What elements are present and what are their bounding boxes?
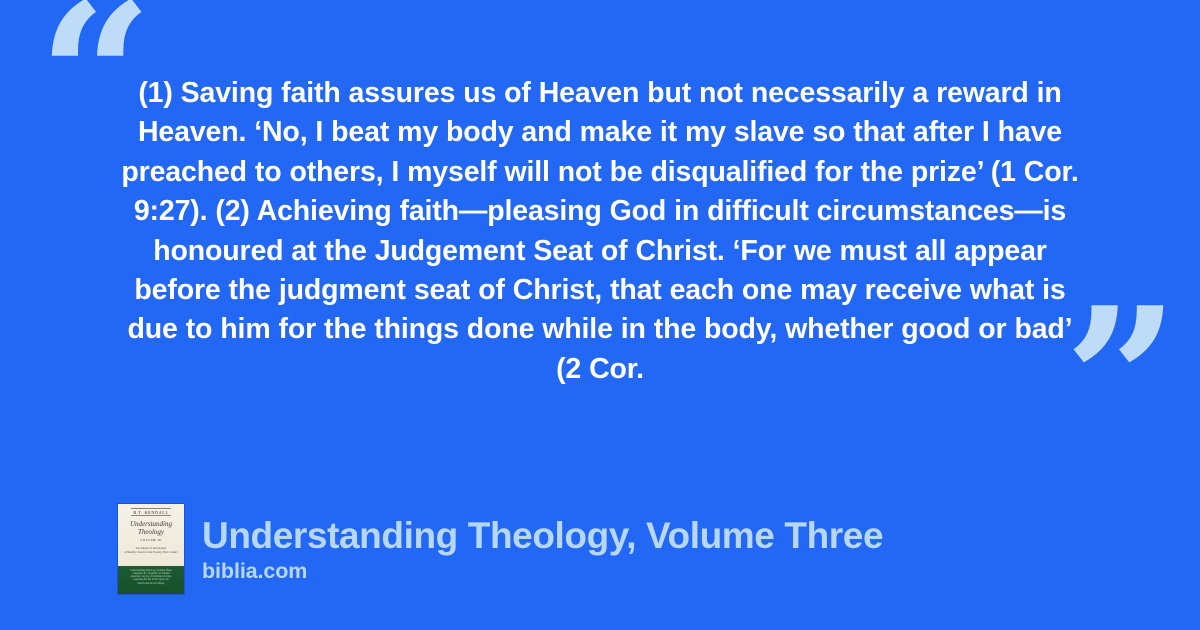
- book-cover-blurb: Understanding Theology, Volume Three com…: [121, 569, 181, 585]
- book-cover-thumbnail: R.T. KENDALL Understanding Theology VOLU…: [118, 504, 184, 594]
- book-title: Understanding Theology, Volume Three: [202, 516, 883, 556]
- book-cover-top: R.T. KENDALL Understanding Theology VOLU…: [118, 504, 184, 566]
- quote-block: (1) Saving faith assures us of Heaven bu…: [112, 74, 1088, 389]
- book-cover-title: Understanding Theology: [130, 521, 172, 536]
- site-name: biblia.com: [202, 559, 883, 583]
- book-cover-subtitle: The Means of Developing A Healthy Church…: [120, 546, 182, 554]
- source-row: R.T. KENDALL Understanding Theology VOLU…: [118, 504, 883, 594]
- quote-text: (1) Saving faith assures us of Heaven bu…: [112, 74, 1088, 389]
- book-cover-author: R.T. KENDALL: [131, 508, 170, 516]
- book-cover-volume: VOLUME III: [140, 538, 162, 542]
- quote-card: “ (1) Saving faith assures us of Heaven …: [0, 0, 1200, 630]
- book-cover-bottom: Understanding Theology, Volume Three com…: [118, 566, 184, 594]
- source-meta: Understanding Theology, Volume Three bib…: [202, 516, 883, 583]
